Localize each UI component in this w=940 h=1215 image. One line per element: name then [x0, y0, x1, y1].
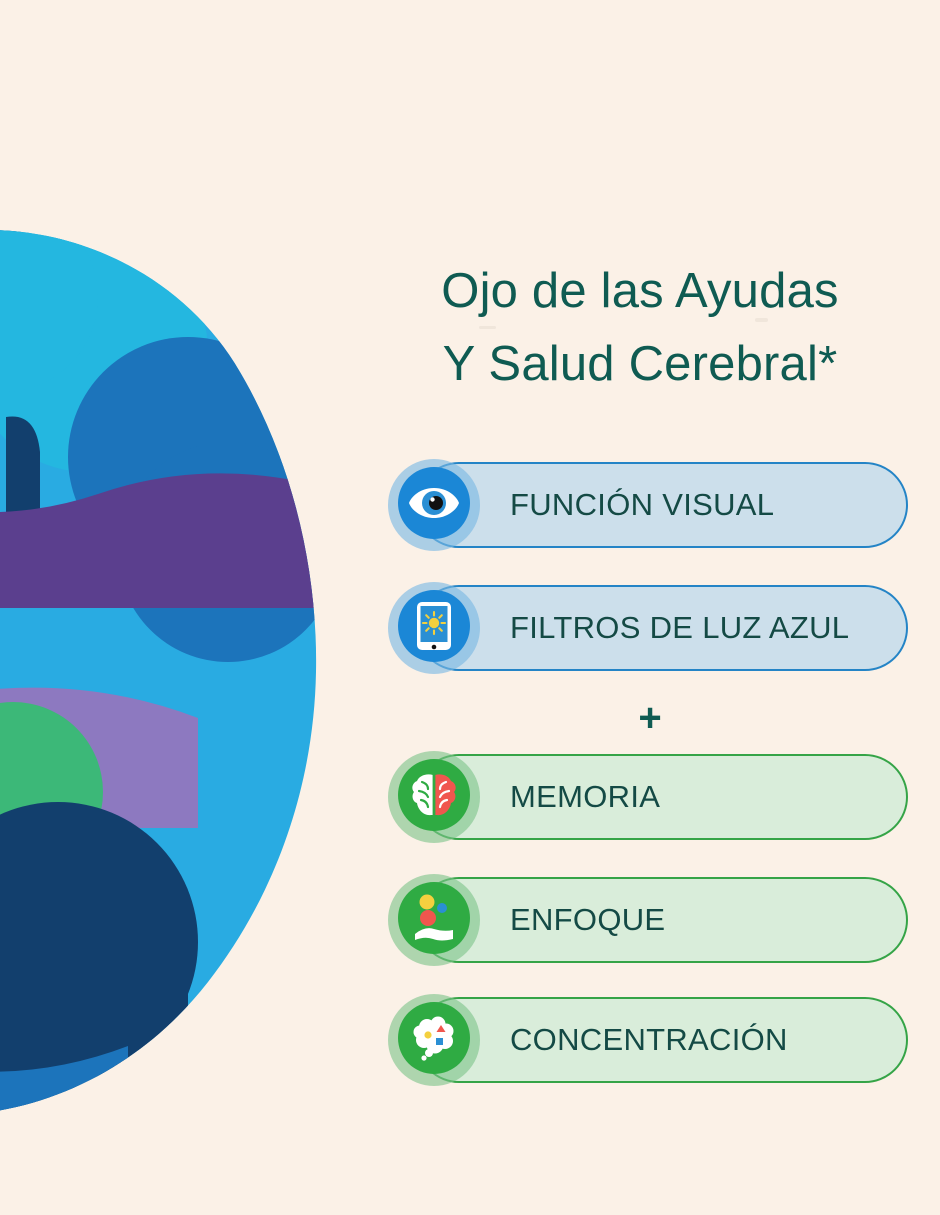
benefit-label: FILTROS DE LUZ AZUL [510, 610, 849, 646]
benefit-label: FUNCIÓN VISUAL [510, 487, 774, 523]
badge-disc [398, 759, 470, 831]
benefit-row-enfoque[interactable]: ENFOQUE [388, 874, 910, 966]
brain-illustration [0, 222, 328, 1117]
badge-disc [398, 467, 470, 539]
benefit-icon-badge [388, 874, 480, 966]
benefit-pill[interactable]: CONCENTRACIÓN [416, 997, 908, 1083]
hand-dots-icon [411, 893, 457, 943]
eye-icon [407, 486, 461, 520]
benefit-row-concentracion[interactable]: CONCENTRACIÓN [388, 994, 910, 1086]
poster-canvas: Ojo de las Ayudas Y Salud Cerebral* FUNC… [0, 0, 940, 1215]
plus-separator: + [620, 693, 680, 743]
badge-disc [398, 590, 470, 662]
benefit-pill[interactable]: FILTROS DE LUZ AZUL [416, 585, 908, 671]
benefit-row-funcion-visual[interactable]: FUNCIÓN VISUAL [388, 459, 910, 551]
title-line-1: Ojo de las Ayudas [350, 255, 930, 328]
benefit-pill[interactable]: ENFOQUE [416, 877, 908, 963]
badge-disc [398, 882, 470, 954]
benefit-pill[interactable]: MEMORIA [416, 754, 908, 840]
benefit-row-memoria[interactable]: MEMORIA [388, 751, 910, 843]
benefit-row-filtros-luz-azul[interactable]: FILTROS DE LUZ AZUL [388, 582, 910, 674]
badge-disc [398, 1002, 470, 1074]
title-line-2: Y Salud Cerebral* [350, 328, 930, 401]
benefit-icon-badge [388, 994, 480, 1086]
benefit-label: MEMORIA [510, 779, 660, 815]
benefit-icon-badge [388, 751, 480, 843]
thought-cloud-icon [410, 1014, 458, 1062]
page-title: Ojo de las Ayudas Y Salud Cerebral* [350, 255, 930, 401]
benefit-pill[interactable]: FUNCIÓN VISUAL [416, 462, 908, 548]
benefit-label: CONCENTRACIÓN [510, 1022, 788, 1058]
title-artifact-right [755, 318, 768, 322]
benefit-icon-badge [388, 459, 480, 551]
benefit-icon-badge [388, 582, 480, 674]
benefit-label: ENFOQUE [510, 902, 665, 938]
title-artifact-left [479, 326, 496, 329]
tablet-blue-light-icon [416, 601, 452, 651]
brain-icon [410, 772, 458, 818]
